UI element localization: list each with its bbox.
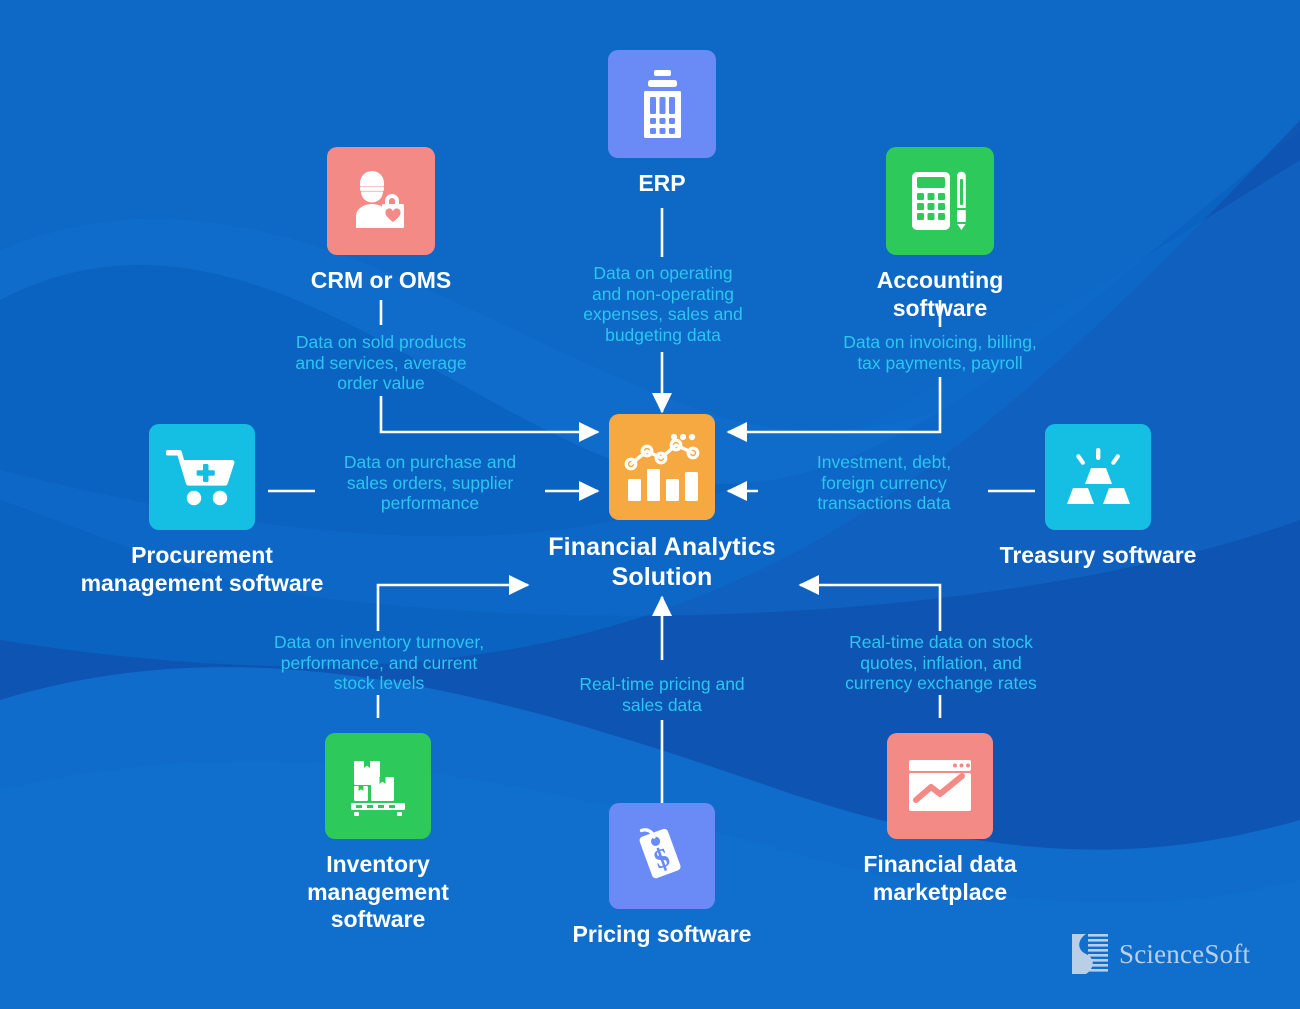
node-label-procurement-management-software: Procurement management software xyxy=(62,542,342,597)
diagram-canvas: Data on operating and non-operating expe… xyxy=(0,0,1300,1009)
edge-label-financial-data-marketplace: Real-time data on stock quotes, inflatio… xyxy=(818,632,1064,694)
node-label-financial-analytics-solution: Financial Analytics Solution xyxy=(512,532,812,592)
edge-label-procurement: Data on purchase and sales orders, suppl… xyxy=(320,452,540,514)
gold-bars-icon xyxy=(1045,424,1151,530)
node-financial-analytics-solution[interactable]: Financial Analytics Solution xyxy=(512,414,812,592)
wire-inventory xyxy=(378,585,528,631)
edge-label-accounting: Data on invoicing, billing, tax payments… xyxy=(812,332,1068,373)
node-pricing-software[interactable]: S Pricing software xyxy=(562,803,762,949)
shopping-cart-plus-icon xyxy=(149,424,255,530)
calculator-pen-icon xyxy=(886,147,994,255)
node-label-treasury-software: Treasury software xyxy=(990,542,1206,570)
office-building-icon xyxy=(608,50,716,158)
sciencesoft-logo-text: ScienceSoft xyxy=(1119,939,1250,970)
analytics-dashboard-icon xyxy=(609,414,715,520)
price-tag-dollar-icon: S xyxy=(609,803,715,909)
browser-line-chart-icon xyxy=(887,733,993,839)
node-crm-or-oms[interactable]: CRM or OMS xyxy=(281,147,481,295)
node-financial-data-marketplace[interactable]: Financial data marketplace xyxy=(840,733,1040,906)
node-label-inventory-management-software: Inventory management software xyxy=(273,851,483,934)
wire-fdm xyxy=(800,585,940,631)
node-procurement-management-software[interactable]: Procurement management software xyxy=(62,424,342,597)
edge-label-erp: Data on operating and non-operating expe… xyxy=(563,263,763,346)
node-label-crm-or-oms: CRM or OMS xyxy=(281,267,481,295)
customer-shopping-bag-icon xyxy=(327,147,435,255)
node-erp[interactable]: ERP xyxy=(562,50,762,198)
boxes-conveyor-icon xyxy=(325,733,431,839)
node-treasury-software[interactable]: Treasury software xyxy=(990,424,1206,570)
node-label-accounting-software: Accounting software xyxy=(840,267,1040,322)
sciencesoft-s-mark-icon xyxy=(1070,932,1110,976)
node-label-pricing-software: Pricing software xyxy=(562,921,762,949)
node-label-financial-data-marketplace: Financial data marketplace xyxy=(840,851,1040,906)
edge-label-inventory: Data on inventory turnover, performance,… xyxy=(248,632,510,694)
edge-label-crm-oms: Data on sold products and services, aver… xyxy=(271,332,491,394)
node-label-erp: ERP xyxy=(562,170,762,198)
sciencesoft-logo: ScienceSoft xyxy=(1070,932,1250,976)
edge-label-pricing: Real-time pricing and sales data xyxy=(556,674,768,715)
edge-label-treasury: Investment, debt, foreign currency trans… xyxy=(786,452,982,514)
node-accounting-software[interactable]: Accounting software xyxy=(840,147,1040,322)
node-inventory-management-software[interactable]: Inventory management software xyxy=(273,733,483,934)
